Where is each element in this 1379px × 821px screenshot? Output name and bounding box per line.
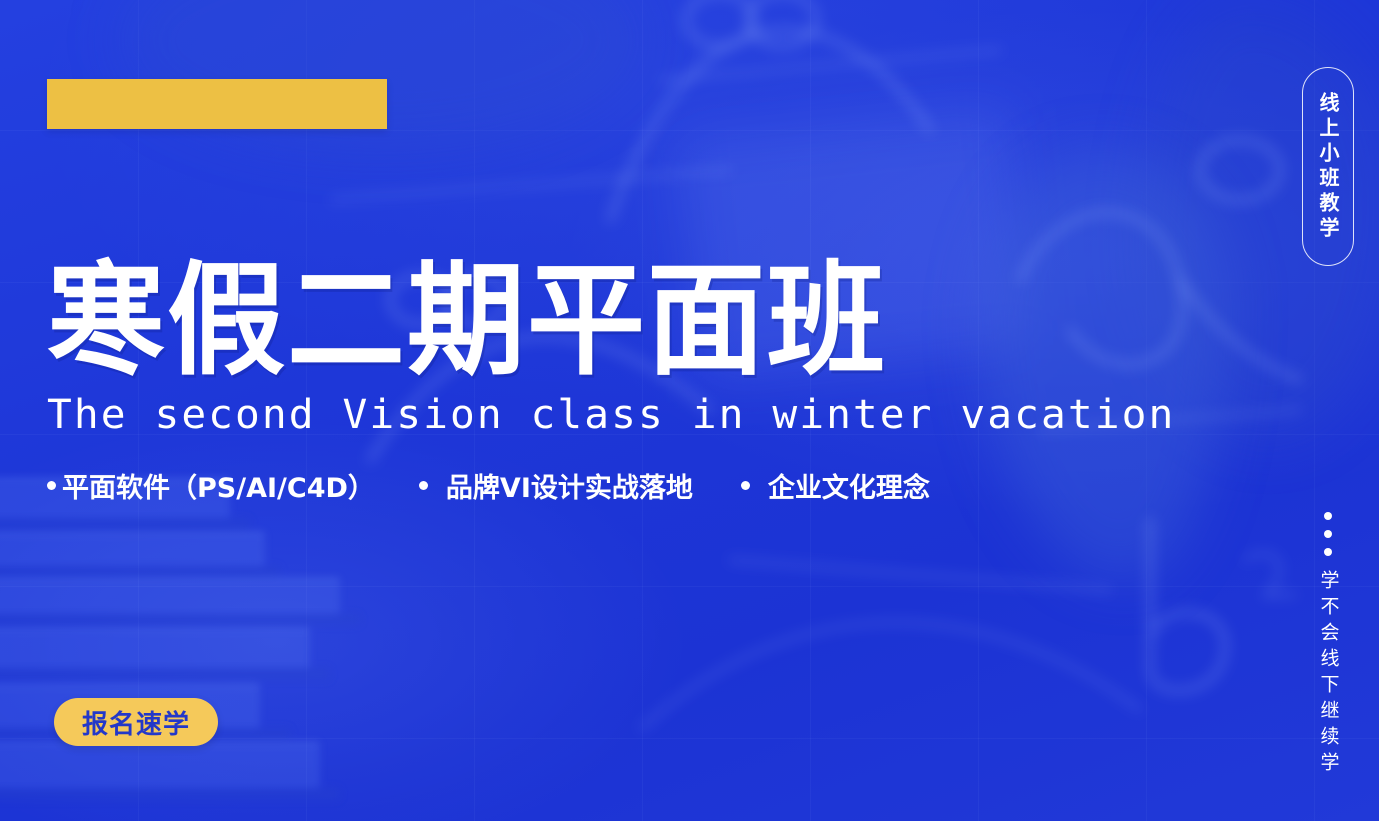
headline-block: 寒假二期平面班 The second Vision class in winte…: [47, 258, 947, 438]
feature-item-brand-vi: 品牌VI设计实战落地: [419, 466, 693, 505]
feature-label: 平面软件（PS/AI/C4D）: [62, 466, 375, 505]
slogan-dot-icon: [1324, 548, 1332, 556]
page-title: 寒假二期平面班: [47, 258, 947, 383]
background-books-stack: [0, 470, 580, 821]
feature-list: 平面软件（PS/AI/C4D） 品牌VI设计实战落地 企业文化理念: [47, 466, 930, 505]
bullet-dot-icon: [419, 481, 428, 490]
guarantee-slogan: 学不会线下继续学: [1302, 512, 1354, 778]
highlight-bar: [47, 79, 387, 129]
enroll-button[interactable]: 报名速学: [54, 698, 218, 746]
feature-item-software: 平面软件（PS/AI/C4D）: [47, 466, 375, 505]
feature-item-culture: 企业文化理念: [741, 466, 930, 505]
page-subtitle: The second Vision class in winter vacati…: [47, 392, 974, 438]
bullet-dot-icon: [741, 481, 750, 490]
bullet-dot-icon: [47, 481, 56, 490]
slogan-dot-icon: [1324, 512, 1332, 520]
slogan-dot-icon: [1324, 530, 1332, 538]
feature-label: 品牌VI设计实战落地: [446, 466, 693, 505]
guarantee-slogan-label: 学不会线下继续学: [1319, 570, 1338, 778]
feature-label: 企业文化理念: [768, 466, 930, 505]
online-class-badge: 线上小班教学: [1302, 67, 1354, 266]
chalk-formula-sweep-icon: [640, 530, 1160, 790]
poster-canvas: 寒假二期平面班 The second Vision class in winte…: [0, 0, 1379, 821]
slogan-dots-icon: [1324, 512, 1332, 556]
online-class-badge-label: 线上小班教学: [1318, 92, 1338, 242]
